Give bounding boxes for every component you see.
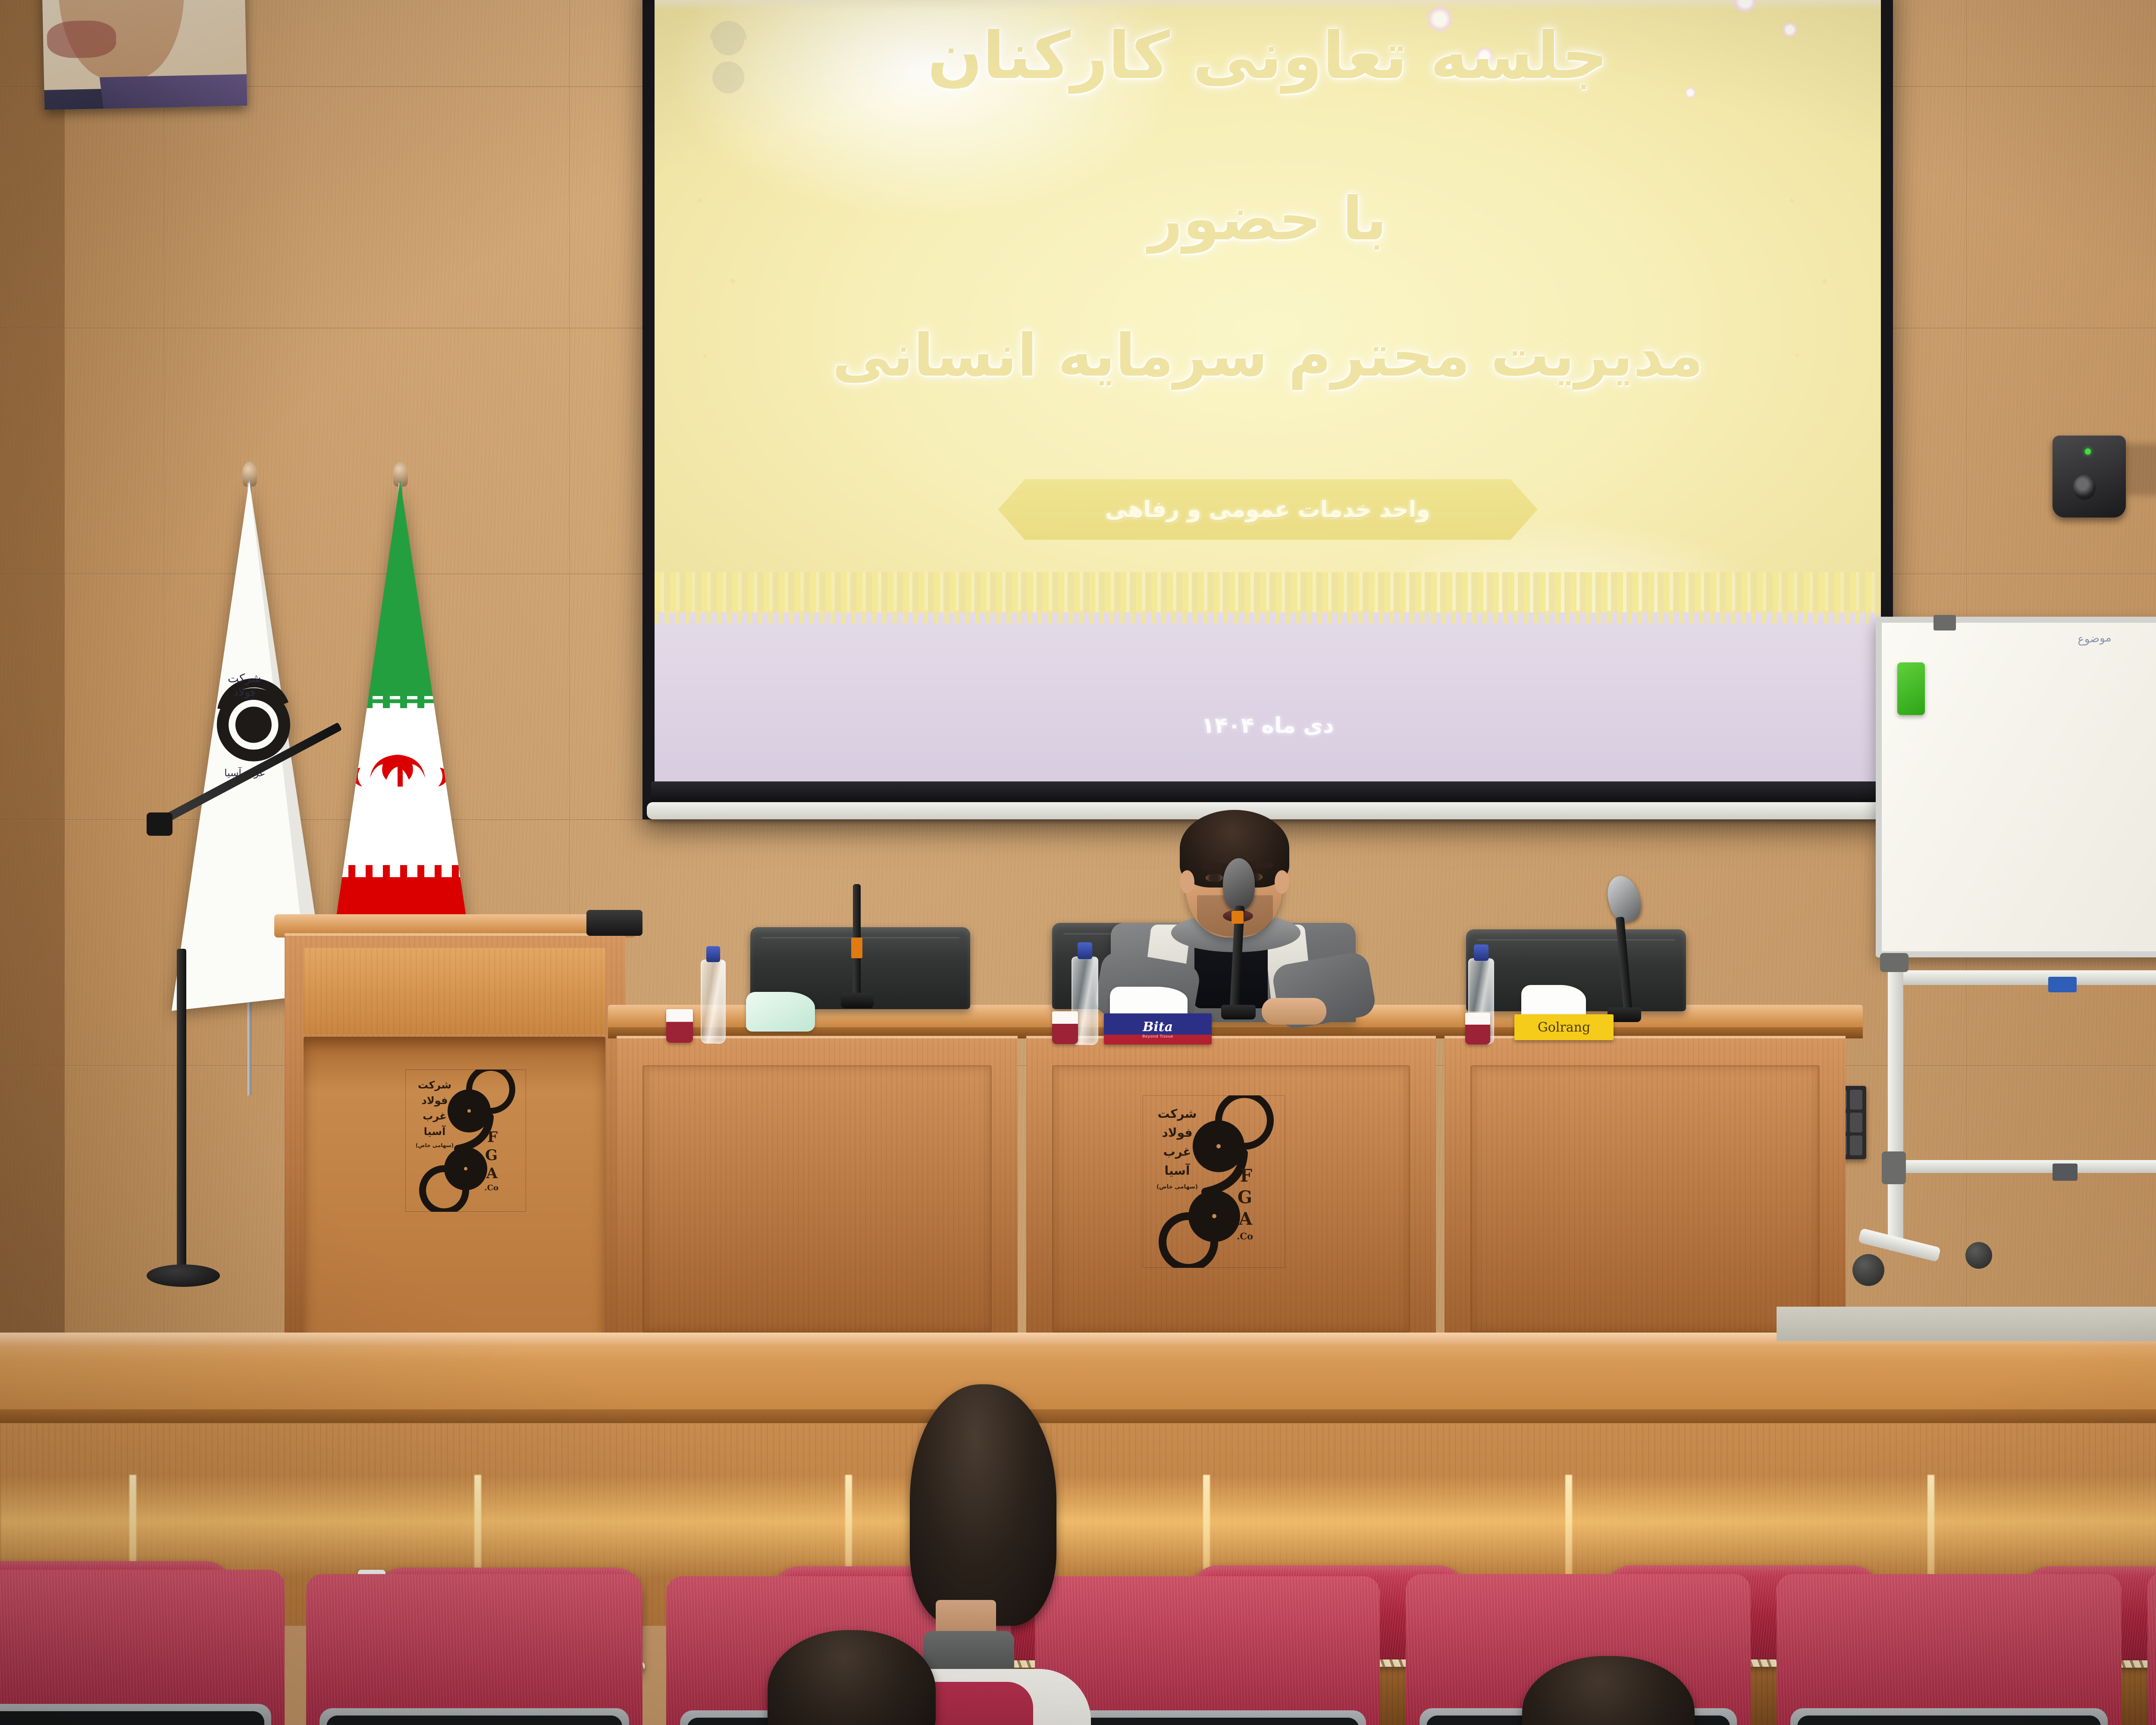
tissue-brand-label: Golrang <box>1106 1020 1159 1035</box>
slide-date: دی ماه ۱۴۰۴ <box>223 713 1450 738</box>
slide-lace-border <box>223 572 1450 613</box>
slide-department-label: واحد خدمات عمومی و رفاهی <box>674 497 999 523</box>
camera-shadow <box>1695 444 1729 496</box>
whiteboard-clip <box>1821 615 1844 630</box>
svg-text:A: A <box>55 1165 67 1182</box>
light-strip <box>1496 1475 1503 1583</box>
svg-text:(سهامی خاص): (سهامی خاص) <box>0 1142 22 1148</box>
whiteboard-bracket <box>1869 953 1897 972</box>
microphone-center[interactable] <box>776 858 837 1022</box>
whiteboard-note: موضوع <box>1646 631 1680 646</box>
whiteboard-caster <box>1784 1242 1811 1269</box>
security-camera <box>1621 436 1695 517</box>
rail-clamp <box>1621 1164 1646 1181</box>
whiteboard[interactable]: موضوع <box>1445 617 1902 957</box>
panel-inset <box>1039 1065 1388 1333</box>
portrait-right <box>1797 0 2006 105</box>
paper-cup-right[interactable] <box>1034 1013 1059 1044</box>
whiteboard-rail-bottom <box>1457 1160 1891 1173</box>
seat-front-7[interactable] <box>1716 1572 2061 1725</box>
projection-screen: جلسه تعاونی کارکنان با حضور مدیریت محترم… <box>211 0 1462 819</box>
svg-text:فولاد: فولاد <box>0 1095 16 1107</box>
svg-text:Co.: Co. <box>805 1231 822 1242</box>
svg-text:F: F <box>809 1166 821 1186</box>
blossom-icon <box>1303 0 1325 13</box>
svg-text:آسیا: آسیا <box>0 1125 15 1138</box>
seat-front-6[interactable] <box>1345 1574 1690 1725</box>
paper-cup-center[interactable] <box>621 1011 647 1044</box>
svg-text:G: G <box>54 1147 66 1164</box>
table-fga-logo: شرکت فولاد غرب آسیا (سهامی خاص) F G A Co… <box>711 1095 854 1268</box>
light-strip <box>1134 1475 1141 1583</box>
podium: شرکت فولاد غرب آسیا (سهامی خاص) F G A Co… <box>0 914 194 1363</box>
tissue-box-center[interactable]: Bita Beyond Tissue <box>673 987 785 1045</box>
svg-text:شرکت: شرکت <box>0 1079 20 1091</box>
speaker-hand <box>830 998 895 1025</box>
screen-surface: جلسه تعاونی کارکنان با حضور مدیریت محترم… <box>223 0 1450 782</box>
slide-title-line: جلسه تعاونی کارکنان <box>223 22 1450 91</box>
microphone-left[interactable] <box>401 884 453 1013</box>
conference-hall-scene: جلسه تعاونی کارکنان با حضور مدیریت محترم… <box>0 0 2156 1725</box>
tissue-box-right[interactable]: Golrang <box>1083 988 1187 1046</box>
svg-text:فولاد: فولاد <box>730 1126 761 1140</box>
audience-member-lower-right <box>1091 1656 1263 1725</box>
light-strip <box>43 1475 50 1583</box>
svg-text:A: A <box>807 1209 821 1229</box>
podium-mic-base <box>155 910 211 936</box>
presentation-slide: جلسه تعاونی کارکنان با حضور مدیریت محترم… <box>223 0 1450 782</box>
whiteboard-caster <box>1421 1254 1453 1286</box>
speaker-ear <box>843 870 858 894</box>
slide-top-band <box>223 0 1450 10</box>
whiteboard-leg-right <box>1874 962 1890 1251</box>
tissue-brand-label: Bita <box>711 1019 742 1035</box>
svg-text:G: G <box>806 1187 821 1207</box>
slide-heading-line: مدیریت محترم سرمایه انسانی <box>223 322 1450 390</box>
tissue-box-left[interactable] <box>310 992 401 1044</box>
whiteboard-caster <box>1534 1242 1561 1269</box>
seat-front-8[interactable] <box>2053 1572 2156 1725</box>
paper-cup-left[interactable] <box>235 1009 262 1043</box>
led-cove-light <box>0 1475 2156 1578</box>
svg-text:Co.: Co. <box>53 1183 67 1192</box>
whiteboard-rail-top <box>1457 970 1891 985</box>
svg-text:F: F <box>56 1129 66 1146</box>
svg-text:آسیا: آسیا <box>733 1163 759 1178</box>
slide-department-badge: واحد خدمات عمومی و رفاهی <box>567 479 1106 540</box>
slide-subtitle-line: با حضور <box>223 184 1450 254</box>
svg-text:غرب: غرب <box>732 1145 760 1159</box>
whiteboard-clip <box>1502 615 1525 630</box>
slide-bottom-panel <box>223 612 1450 782</box>
whiteboard-eraser[interactable] <box>1466 662 1494 715</box>
head-table: شرکت فولاد غرب آسیا (سهامی خاص) F G A Co… <box>185 1005 1423 1363</box>
speaker-ear <box>749 870 763 894</box>
svg-text:شرکت: شرکت <box>727 1107 766 1121</box>
whiteboard-caster <box>1900 1254 1932 1286</box>
whiteboard-bracket <box>1451 1151 1475 1184</box>
stage-floor <box>1345 1307 2156 1341</box>
whiteboard-assembly: موضوع <box>1432 617 1915 1315</box>
water-bottle-left[interactable] <box>269 960 295 1044</box>
whiteboard-bracket <box>1871 1151 1896 1184</box>
svg-text:غرب: غرب <box>0 1110 16 1122</box>
audience-member-lower-left <box>336 1630 505 1725</box>
whiteboard-bracket <box>1449 953 1477 972</box>
camera-lens-icon <box>1642 475 1664 500</box>
svg-text:(سهامی خاص): (سهامی خاص) <box>725 1184 767 1190</box>
whiteboard-marker[interactable] <box>1861 625 1891 659</box>
podium-fga-logo: شرکت فولاد غرب آسیا (سهامی خاص) F G A Co… <box>0 1069 95 1212</box>
whiteboard-leg-left <box>1457 962 1472 1251</box>
panel-inset <box>211 1065 561 1333</box>
wall-seam <box>1958 0 1959 1358</box>
stage-apron <box>0 1333 2156 1427</box>
seat-front-2[interactable] <box>0 1574 211 1725</box>
tissue-brand-sub: Beyond Tissue <box>711 1035 742 1039</box>
rail-clamp <box>1617 977 1645 992</box>
podium-upper-panel <box>0 948 174 1034</box>
wall-recess-right <box>2087 0 2156 1358</box>
